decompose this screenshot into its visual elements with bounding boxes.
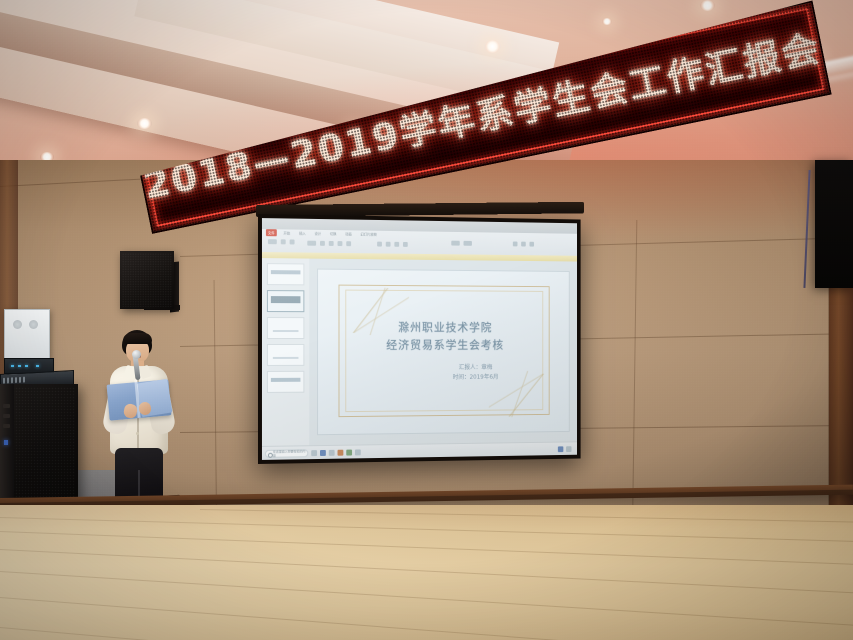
slide-date-label: 时间：2019年6月 [380,373,570,385]
bullets-icon[interactable] [377,242,382,247]
taskbar-search-input[interactable]: 在这里输入你要搜索的内容 [265,449,308,458]
floor-plank-seam [0,517,853,543]
cut-icon[interactable] [281,239,286,244]
slide-thumbnail-panel[interactable] [262,258,310,446]
thumbnail-content [271,378,301,382]
amplifier-led-3 [25,365,28,367]
ribbon-tab-0[interactable]: 文件 [266,229,277,236]
amplifier-led-4 [36,365,39,367]
projection-screen: 文件 开始 插入 设计 切换 动画 幻灯片放映 [258,214,581,464]
ribbon-group-paragraph[interactable] [377,242,408,247]
amplifier-led-1 [11,365,14,367]
wall-display-panel [815,160,853,288]
italic-icon[interactable] [329,241,334,246]
taskbar-tray[interactable] [558,446,574,452]
current-slide[interactable]: 滁州职业技术学院 经济贸易系学生会考核 汇报人：章梅 时间：2019年6月 [318,270,570,434]
floor-plank-seam [0,597,853,640]
thumbnail-content [273,357,299,359]
ribbon-group-font[interactable] [307,241,351,247]
mixer-fader [3,378,5,384]
ribbon-tab-4[interactable]: 切换 [328,230,338,237]
speaker-connector [3,424,10,428]
mixer-fader [11,377,13,383]
slide-title: 滁州职业技术学院 经济贸易系学生会考核 [318,319,570,354]
slide-thumbnail-1[interactable] [267,263,304,285]
ribbon-group-clipboard[interactable] [268,239,295,244]
tray-volume-icon[interactable] [566,446,571,452]
floor-speaker-side-panel [0,384,14,510]
speaker-connector [3,404,10,408]
edge-browser-icon[interactable] [320,449,326,455]
mixer-controls [3,377,25,384]
amplifier-led-2 [18,365,21,367]
wechat-icon[interactable] [346,449,352,455]
ribbon-tab-2[interactable]: 插入 [297,230,308,237]
presenter-fringe [123,333,152,344]
presenter-button [136,432,139,435]
powerpoint-taskbar-icon[interactable] [338,449,344,455]
floor-plank-seam [0,549,853,596]
auditorium-photo: 2018—2019学年系学生会工作汇报会 文件 开始 插入 设计 切换 动画 幻… [0,0,853,640]
replace-icon[interactable] [521,242,526,247]
copy-icon[interactable] [290,239,295,244]
thumbnail-content [271,296,301,303]
font-color-icon[interactable] [346,241,351,246]
speaker-connector [3,414,10,418]
amplifier-vent-right [29,320,38,329]
arrange-icon[interactable] [463,241,471,246]
ribbon-group-editing[interactable] [513,242,534,247]
ribbon-tabstrip[interactable]: 文件 开始 插入 设计 切换 动画 幻灯片放映 [266,229,379,238]
mixer-fader [19,377,21,383]
amplifier-vent-left [13,320,22,329]
media-player-icon[interactable] [355,449,361,455]
ribbon-tab-6[interactable]: 幻灯片放映 [359,231,379,238]
microphone-head-icon [132,350,141,359]
select-icon[interactable] [529,242,534,247]
shapes-icon[interactable] [451,241,459,246]
ribbon-tab-3[interactable]: 设计 [313,230,324,237]
align-left-icon[interactable] [394,242,399,247]
ribbon-tab-5[interactable]: 动画 [343,230,353,237]
thumbnail-content [271,270,301,274]
task-view-icon[interactable] [311,450,317,456]
mixer-fader [7,377,9,383]
slide-thumbnail-3[interactable] [267,317,304,339]
tray-network-icon[interactable] [558,446,563,452]
align-center-icon[interactable] [403,242,408,247]
slide-subtitle: 汇报人：章梅 时间：2019年6月 [318,363,570,385]
numbering-icon[interactable] [386,242,391,247]
thumbnail-content [273,330,299,332]
speaker-power-led [4,440,8,445]
wooden-floor [0,505,853,640]
slide-editing-stage[interactable]: 滁州职业技术学院 经济贸易系学生会考核 汇报人：章梅 时间：2019年6月 [309,259,577,446]
slide-title-line-1: 滁州职业技术学院 [318,319,570,337]
bold-icon[interactable] [320,241,325,246]
wall-mounted-speaker [120,251,174,309]
font-name-box[interactable] [307,241,316,246]
paste-icon[interactable] [268,239,277,244]
slide-title-line-2: 经济贸易系学生会考核 [318,337,570,355]
ribbon-group-drawing[interactable] [451,241,472,246]
mixer-fader [15,377,17,383]
floor-plank-seam [0,571,853,629]
floor-plank-seam [200,509,853,523]
slide-thumbnail-2[interactable] [267,290,304,312]
mixer-fader [23,377,25,383]
file-explorer-icon[interactable] [329,449,335,455]
speaker-grill [122,253,172,307]
slide-thumbnail-4[interactable] [267,344,304,366]
ribbon-tab-1[interactable]: 开始 [282,229,293,236]
underline-icon[interactable] [338,241,343,246]
slide-thumbnail-5[interactable] [267,371,304,393]
find-icon[interactable] [513,242,518,247]
projected-image: 文件 开始 插入 设计 切换 动画 幻灯片放映 [262,218,577,460]
